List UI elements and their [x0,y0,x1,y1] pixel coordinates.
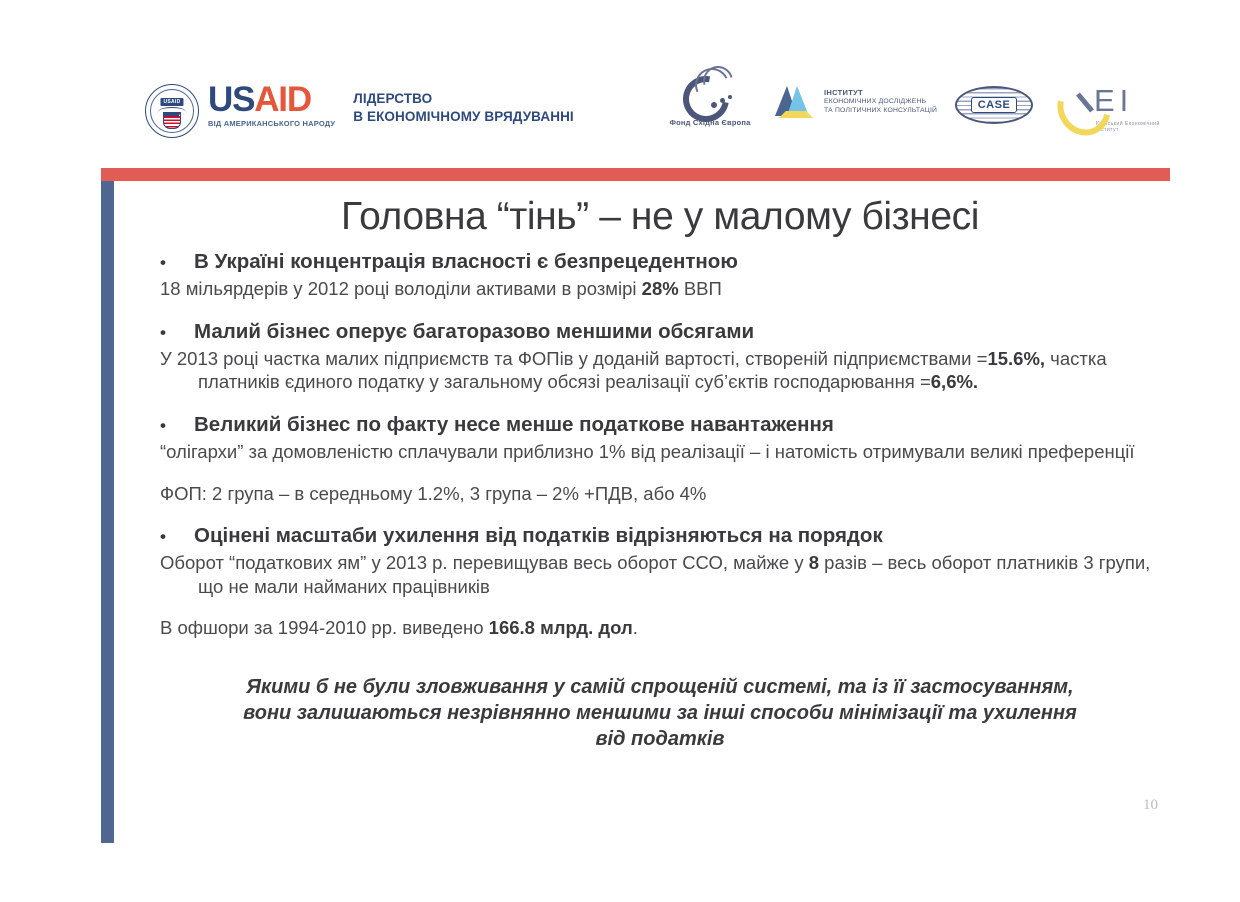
case-label: CASE [971,97,1018,113]
shield-icon [163,112,181,129]
bullet-heading: •В Україні концентрація власності є безп… [160,249,1160,274]
detail-text: ВВП [679,278,722,299]
usaid-tagline: ЛІДЕРСТВО В ЕКОНОМІЧНОМУ ВРЯДУВАННІ [353,90,574,126]
presentation-slide: USAID USAID ВІД АМЕРИКАНСЬКОГО НАРОДУ ЛІ… [0,0,1240,902]
case-logo: CASE [955,86,1033,124]
emphasis-value: 166.8 млрд. дол [489,617,633,638]
bullet-dot-icon: • [160,417,194,434]
bullet-heading: •Оцінені масштаби ухилення від податків … [160,523,1160,548]
usaid-word-aid: AID [254,80,311,119]
ier-line1: ІНСТИТУТ [824,88,937,98]
bullet-heading-text: Оцінені масштаби ухилення від податків в… [194,523,1160,548]
usaid-tagline-line1: ЛІДЕРСТВО [353,90,574,108]
usaid-wordmark: USAID ВІД АМЕРИКАНСЬКОГО НАРОДУ [208,82,335,128]
detail-text: У 2013 році частка малих підприємств та … [160,348,987,369]
bullet-detail: В офшори за 1994-2010 рр. виведено 166.8… [160,616,1160,639]
top-accent-bar [101,168,1170,181]
bullet-detail: 18 мільярдерів у 2012 році володіли акти… [160,277,1160,300]
bullet-heading: •Малий бізнес оперує багаторазово меншим… [160,319,1160,344]
usaid-seal-icon: USAID [145,84,199,138]
detail-text: 18 мільярдерів у 2012 році володіли акти… [160,278,642,299]
bullet-list: •В Україні концентрація власності є безп… [160,249,1160,640]
usaid-word-us: US [208,80,254,119]
emphasis-value: 15.6%, [987,348,1045,369]
bullet-heading-text: Малий бізнес оперує багаторазово меншими… [194,319,1160,344]
usaid-seal-label: USAID [160,98,183,106]
conclusion-text: Якими б не були зловживання у самій спро… [160,674,1160,752]
usaid-word: USAID [208,82,335,117]
bullet-detail: У 2013 році частка малих підприємств та … [160,347,1160,394]
emphasis-value: 6,6%. [931,371,978,392]
kei-caption: Київський Економічний Інститут [1096,121,1178,133]
page-number: 10 [1143,797,1158,814]
case-globe-icon: CASE [955,86,1033,124]
fse-emblem-icon [681,70,739,116]
ier-line3: ТА ПОЛІТИЧНИХ КОНСУЛЬТАЦІЙ [824,107,937,116]
usaid-tagline-line2: В ЕКОНОМІЧНОМУ ВРЯДУВАННІ [353,108,574,126]
ier-triangle-icon [775,84,817,120]
kei-letters: EI [1094,84,1133,118]
left-accent-bar [101,181,114,843]
bullet-detail: Оборот “податкових ям” у 2013 р. перевищ… [160,551,1160,598]
page-title: Головна “тінь” – не у малому бізнесі [160,196,1160,239]
emphasis-value: 28% [642,278,679,299]
bullet-heading: •Великий бізнес по факту несе менше пода… [160,412,1160,437]
ier-line2: ЕКОНОМІЧНИХ ДОСЛІДЖЕНЬ [824,98,937,107]
bullet-heading-text: В Україні концентрація власності є безпр… [194,249,1160,274]
detail-text: Оборот “податкових ям” у 2013 р. перевищ… [160,552,809,573]
detail-text: “олігархи” за домовленістю сплачували пр… [160,441,1135,462]
ier-logo: ІНСТИТУТ ЕКОНОМІЧНИХ ДОСЛІДЖЕНЬ ТА ПОЛІТ… [775,84,937,120]
logo-strip: USAID USAID ВІД АМЕРИКАНСЬКОГО НАРОДУ ЛІ… [0,62,1240,152]
fse-logo: Фонд Східна Європа [655,70,765,127]
bullet-dot-icon: • [160,528,194,545]
bullet-dot-icon: • [160,324,194,341]
bullet-detail: “олігархи” за домовленістю сплачували пр… [160,440,1160,463]
kei-emblem-icon: EI [1058,84,1178,120]
fse-dot-large [711,102,717,108]
detail-text: ФОП: 2 група – в середньому 1.2%, 3 груп… [160,483,706,504]
ier-text: ІНСТИТУТ ЕКОНОМІЧНИХ ДОСЛІДЖЕНЬ ТА ПОЛІТ… [824,88,937,115]
fse-dot-medium [720,98,725,103]
emphasis-value: 8 [809,552,819,573]
fse-dot-small [728,95,732,99]
bullet-detail: ФОП: 2 група – в середньому 1.2%, 3 груп… [160,482,1160,505]
bullet-heading-text: Великий бізнес по факту несе менше подат… [194,412,1160,437]
usaid-logo: USAID USAID ВІД АМЕРИКАНСЬКОГО НАРОДУ ЛІ… [145,82,574,138]
detail-text: В офшори за 1994-2010 рр. виведено [160,617,489,638]
kei-logo: EI Київський Економічний Інститут [1058,84,1178,133]
detail-text: . [633,617,638,638]
usaid-subtitle: ВІД АМЕРИКАНСЬКОГО НАРОДУ [208,119,335,128]
slide-content: Головна “тінь” – не у малому бізнесі •В … [160,196,1160,752]
bullet-dot-icon: • [160,254,194,271]
